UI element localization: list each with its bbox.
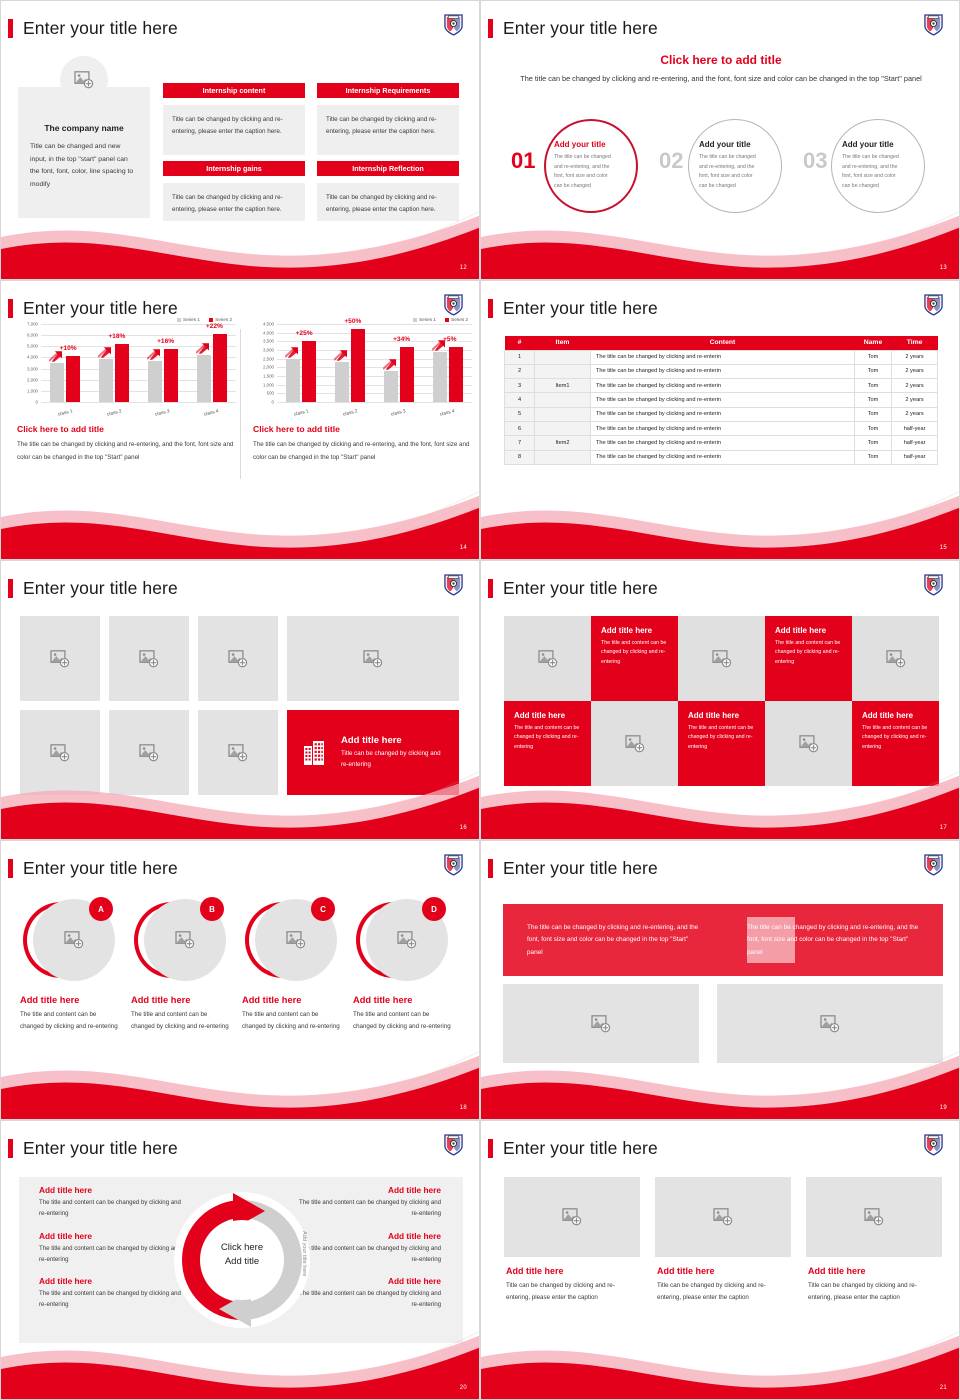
x-tick-label: class 4 xyxy=(440,409,456,417)
text-tile[interactable]: Add title here The title and content can… xyxy=(678,701,765,786)
image-placeholder[interactable] xyxy=(655,1177,791,1257)
cell-index: 4 xyxy=(505,393,535,407)
card-title[interactable]: Add title here xyxy=(657,1266,781,1276)
table-row[interactable]: 7 Item2 The title can be changed by clic… xyxy=(505,436,938,450)
cell-name: Tom xyxy=(854,379,891,393)
title-text: Enter your title here xyxy=(23,1138,178,1159)
badge-letter: A xyxy=(89,897,113,921)
feature-title: Add title here xyxy=(341,735,443,746)
add-image-icon xyxy=(864,1208,884,1226)
chart-block-2[interactable]: Series 1 Series 2 05001,0001,5002,0002,5… xyxy=(253,317,480,464)
tile-title: Add title here xyxy=(862,711,929,720)
right-arc-label: Add your title here xyxy=(301,1231,307,1276)
tile-text: The title and content can be changed by … xyxy=(688,724,755,752)
cell-content[interactable]: The title can be changed by clicking and… xyxy=(591,450,855,464)
y-tick-label: 1,000 xyxy=(263,382,277,387)
image-placeholder[interactable] xyxy=(20,616,100,701)
cell-content[interactable]: The title can be changed by clicking and… xyxy=(591,393,855,407)
image-placeholder[interactable] xyxy=(591,701,678,786)
slide-20[interactable]: Enter your title here Add title here The… xyxy=(0,1120,480,1400)
title-text: Enter your title here xyxy=(503,298,658,319)
shield-logo-icon xyxy=(444,293,463,316)
legend-label: Series 1 xyxy=(419,317,436,322)
chart-block-1[interactable]: Series 1 Series 2 01,0002,0003,0004,0005… xyxy=(17,317,246,464)
add-image-icon xyxy=(591,1015,611,1033)
cell-time: half-year xyxy=(892,450,938,464)
bar-series-1[interactable] xyxy=(148,361,162,402)
slide-title[interactable]: Enter your title here xyxy=(8,1138,178,1159)
cell-content[interactable]: The title can be changed by clicking and… xyxy=(591,379,855,393)
table-column-header: # xyxy=(505,336,535,350)
card-text: Title can be changed by clicking and re-… xyxy=(808,1280,932,1304)
add-image-icon xyxy=(397,931,417,949)
cell-content[interactable]: The title can be changed by clicking and… xyxy=(591,364,855,378)
cycle-diagram[interactable]: Click here Add title Add your title here… xyxy=(167,1183,317,1338)
box-body-1: Title can be changed by clicking and re-… xyxy=(163,105,305,155)
cell-index: 6 xyxy=(505,421,535,435)
slide-14[interactable]: Enter your title here Series 1 Series 2 … xyxy=(0,280,480,560)
table-row[interactable]: 1 The title can be changed by clicking a… xyxy=(505,350,938,364)
slide-title[interactable]: Enter your title here xyxy=(8,858,178,879)
item-title[interactable]: Add title here xyxy=(242,995,352,1005)
data-table[interactable]: #ItemContentNameTime 1 The title can be … xyxy=(504,336,938,465)
media-card[interactable]: Add title here Title can be changed by c… xyxy=(806,1177,942,1304)
add-image-icon xyxy=(820,1015,840,1033)
image-placeholder[interactable] xyxy=(806,1177,942,1257)
item-text: The title and content can be changed by … xyxy=(242,1009,342,1033)
page-number: 13 xyxy=(940,265,947,271)
cell-content[interactable]: The title can be changed by clicking and… xyxy=(591,436,855,450)
add-image-icon xyxy=(625,735,645,753)
cell-content[interactable]: The title can be changed by clicking and… xyxy=(591,421,855,435)
slide-19[interactable]: Enter your title here The title can be c… xyxy=(480,840,960,1120)
item-title[interactable]: Add title here xyxy=(353,995,463,1005)
x-tick-label: class 2 xyxy=(106,409,122,417)
chart-plot-2: 05001,0001,5002,0002,5003,0003,5004,0004… xyxy=(277,324,472,402)
badge-letter: B xyxy=(200,897,224,921)
footer-wave xyxy=(1,489,480,559)
title-text: Enter your title here xyxy=(23,858,178,879)
shield-logo-icon xyxy=(444,573,463,596)
bar-group-container: +10% class 1 +18% class 2 +16% class 3 +… xyxy=(41,324,236,402)
y-tick-label: 5,000 xyxy=(27,344,41,349)
cell-index: 2 xyxy=(505,364,535,378)
circle-item[interactable]: C Add title here The title and content c… xyxy=(242,899,352,1033)
y-tick-label: 7,000 xyxy=(27,322,41,327)
add-image-icon xyxy=(50,744,70,762)
card-text: Title can be changed by clicking and re-… xyxy=(657,1280,781,1304)
bar-series-2[interactable] xyxy=(213,334,227,402)
bar-series-2[interactable] xyxy=(164,349,178,402)
cell-content[interactable]: The title can be changed by clicking and… xyxy=(591,407,855,421)
box-body-2: Title can be changed by clicking and re-… xyxy=(317,105,459,155)
image-grid: Add title here Title can be changed by c… xyxy=(20,616,459,795)
step-title-2: Add your title xyxy=(699,140,751,149)
growth-annotation: +16% xyxy=(157,338,174,345)
center-line-1: Click here xyxy=(167,1241,317,1255)
feature-text: Title can be changed by clicking and re-… xyxy=(341,749,443,769)
bar-group[interactable]: +25% class 1 xyxy=(277,324,326,402)
company-image-placeholder[interactable] xyxy=(60,56,108,104)
box-body-3: Title can be changed by clicking and re-… xyxy=(163,183,305,221)
slide-21[interactable]: Enter your title here Add title here Tit… xyxy=(480,1120,960,1400)
growth-annotation: +5% xyxy=(443,336,456,343)
shield-logo-icon xyxy=(924,293,943,316)
footer-wave xyxy=(481,489,960,559)
title-text: Enter your title here xyxy=(23,18,178,39)
bar-series-2[interactable] xyxy=(302,341,316,402)
box-header-3[interactable]: Internship gains xyxy=(163,161,305,176)
cell-content[interactable]: The title can be changed by clicking and… xyxy=(591,350,855,364)
tile-title: Add title here xyxy=(514,711,581,720)
circle-graphic: A xyxy=(23,899,115,981)
title-text: Enter your title here xyxy=(503,578,658,599)
image-placeholder[interactable] xyxy=(198,616,278,701)
building-icon xyxy=(303,740,329,766)
step-title-1: Add your title xyxy=(554,140,606,149)
bar-series-2[interactable] xyxy=(449,347,463,402)
y-tick-label: 2,000 xyxy=(263,365,277,370)
image-placeholder[interactable] xyxy=(717,984,943,1063)
add-image-icon xyxy=(286,931,306,949)
page-number: 18 xyxy=(460,1105,467,1111)
y-tick-label: 2,000 xyxy=(27,377,41,382)
chart-caption-title-2[interactable]: Click here to add title xyxy=(253,424,480,434)
growth-annotation: +25% xyxy=(296,330,313,337)
page-number: 16 xyxy=(460,825,467,831)
cell-name: Tom xyxy=(854,436,891,450)
title-text: Enter your title here xyxy=(23,298,178,319)
image-placeholder[interactable] xyxy=(198,710,278,795)
card-title[interactable]: Add title here xyxy=(808,1266,932,1276)
y-tick-label: 3,000 xyxy=(263,348,277,353)
tile-title: Add title here xyxy=(601,626,668,635)
bar-group[interactable]: +18% class 2 xyxy=(90,324,139,402)
bar-group[interactable]: +34% class 3 xyxy=(375,324,424,402)
chart-caption-text-2: The title can be changed by clicking and… xyxy=(253,438,480,464)
growth-arrow-icon xyxy=(49,351,62,362)
slide-title[interactable]: Enter your title here xyxy=(488,1138,658,1159)
tile-text: The title and content can be changed by … xyxy=(775,639,842,667)
add-image-icon xyxy=(228,650,248,668)
page-number: 21 xyxy=(940,1385,947,1391)
bar-series-2[interactable] xyxy=(400,347,414,402)
add-image-icon xyxy=(886,650,906,668)
bar-series-1[interactable] xyxy=(335,362,349,402)
title-text: Enter your title here xyxy=(503,18,658,39)
bar-series-1[interactable] xyxy=(384,371,398,402)
item-text: The title and content can be changed by … xyxy=(20,1009,120,1033)
chart-caption-text-1: The title can be changed by clicking and… xyxy=(17,438,246,464)
feature-card[interactable]: Add title here Title can be changed by c… xyxy=(287,710,459,795)
circle-graphic: C xyxy=(245,899,337,981)
title-accent-bar xyxy=(8,1139,13,1158)
chart-plot-1: 01,0002,0003,0004,0005,0006,0007,000 +10… xyxy=(41,324,236,402)
slide-title[interactable]: Enter your title here xyxy=(8,298,178,319)
mixed-grid: Add title here The title and content can… xyxy=(504,616,939,786)
growth-arrow-icon xyxy=(334,350,347,361)
bar-group[interactable]: +10% class 1 xyxy=(41,324,90,402)
title-accent-bar xyxy=(488,1139,493,1158)
text-tile[interactable]: Add title here The title and content can… xyxy=(765,616,852,701)
table-row[interactable]: 6 The title can be changed by clicking a… xyxy=(505,421,938,435)
cell-index: 8 xyxy=(505,450,535,464)
cell-item xyxy=(535,350,591,364)
growth-annotation: +22% xyxy=(206,323,223,330)
title-accent-bar xyxy=(8,299,13,318)
y-tick-label: 1,500 xyxy=(263,374,277,379)
shield-logo-icon xyxy=(444,13,463,36)
box-header-2[interactable]: Internship Requirements xyxy=(317,83,459,98)
bar-group[interactable]: +50% class 2 xyxy=(326,324,375,402)
box-header-1[interactable]: Internship content xyxy=(163,83,305,98)
cell-item xyxy=(535,450,591,464)
title-accent-bar xyxy=(488,859,493,878)
growth-annotation: +50% xyxy=(344,318,361,325)
shield-logo-icon xyxy=(444,1133,463,1156)
slide-12[interactable]: Enter your title here The company name T… xyxy=(0,0,480,280)
image-placeholder[interactable] xyxy=(852,616,939,701)
table-row[interactable]: 4 The title can be changed by clicking a… xyxy=(505,393,938,407)
table-column-header: Time xyxy=(892,336,938,350)
add-image-icon xyxy=(139,744,159,762)
shield-logo-icon xyxy=(924,853,943,876)
center-line-2: Add title xyxy=(167,1255,317,1269)
bar-group[interactable]: +22% class 4 xyxy=(187,324,236,402)
add-image-icon xyxy=(363,650,383,668)
slide-18[interactable]: Enter your title here A Add title here T… xyxy=(0,840,480,1120)
add-image-icon xyxy=(228,744,248,762)
tile-title: Add title here xyxy=(775,626,842,635)
step-text-3: The title can be changed and re-entering… xyxy=(842,153,904,192)
cell-name: Tom xyxy=(854,450,891,464)
image-placeholder[interactable] xyxy=(20,710,100,795)
item-text: The title and content can be changed by … xyxy=(353,1009,453,1033)
circle-graphic: D xyxy=(356,899,448,981)
cell-item xyxy=(535,393,591,407)
cell-name: Tom xyxy=(854,350,891,364)
banner-divider xyxy=(747,917,795,963)
cell-name: Tom xyxy=(854,421,891,435)
page-number: 19 xyxy=(940,1105,947,1111)
growth-arrow-icon xyxy=(196,343,209,354)
growth-arrow-icon xyxy=(383,359,396,370)
footer-wave xyxy=(481,209,960,279)
y-tick-label: 2,500 xyxy=(263,356,277,361)
company-name: The company name xyxy=(30,123,138,133)
slide-title[interactable]: Enter your title here xyxy=(8,578,178,599)
title-text: Enter your title here xyxy=(503,858,658,879)
page-number: 15 xyxy=(940,545,947,551)
text-tile[interactable]: Add title here The title and content can… xyxy=(591,616,678,701)
image-placeholder[interactable] xyxy=(109,710,189,795)
table-column-header: Content xyxy=(591,336,855,350)
chart-caption-title-1[interactable]: Click here to add title xyxy=(17,424,246,434)
y-tick-label: 3,500 xyxy=(263,339,277,344)
legend-label: Series 1 xyxy=(183,317,200,322)
cell-item: Item1 xyxy=(535,379,591,393)
page-number: 12 xyxy=(460,265,467,271)
text-tile[interactable]: Add title here The title and content can… xyxy=(504,701,591,786)
slide-title[interactable]: Enter your title here xyxy=(488,298,658,319)
title-accent-bar xyxy=(488,579,493,598)
add-image-icon xyxy=(139,650,159,668)
title-accent-bar xyxy=(488,299,493,318)
y-tick-label: 6,000 xyxy=(27,333,41,338)
bar-series-1[interactable] xyxy=(433,352,447,402)
circle-graphic: B xyxy=(134,899,226,981)
tile-text: The title and content can be changed by … xyxy=(514,724,581,752)
y-tick-label: 500 xyxy=(267,391,277,396)
tile-text: The title and content can be changed by … xyxy=(862,724,929,752)
add-image-icon xyxy=(74,71,94,89)
bar-series-2[interactable] xyxy=(115,344,129,403)
bar-series-1[interactable] xyxy=(99,359,113,402)
cell-index: 5 xyxy=(505,407,535,421)
circle-item[interactable]: D Add title here The title and content c… xyxy=(353,899,463,1033)
bar-series-2[interactable] xyxy=(351,329,365,402)
chart-legend-2: Series 1 Series 2 xyxy=(253,317,480,322)
slide-deck: Enter your title here The company name T… xyxy=(0,0,960,1400)
title-text: Enter your title here xyxy=(503,1138,658,1159)
cell-time: half-year xyxy=(892,436,938,450)
circle-item[interactable]: A Add title here The title and content c… xyxy=(20,899,130,1033)
chart-legend-1: Series 1 Series 2 xyxy=(17,317,246,322)
image-placeholder-wide[interactable] xyxy=(287,616,459,701)
page-number: 20 xyxy=(460,1385,467,1391)
x-tick-label: class 2 xyxy=(342,409,358,417)
table-column-header: Item xyxy=(535,336,591,350)
media-card[interactable]: Add title here Title can be changed by c… xyxy=(655,1177,791,1304)
tile-text: The title and content can be changed by … xyxy=(601,639,668,667)
section-heading[interactable]: Click here to add title xyxy=(481,53,960,67)
cell-time: 2 years xyxy=(892,364,938,378)
bar-group-container: +25% class 1 +50% class 2 +34% class 3 +… xyxy=(277,324,472,402)
y-tick-label: 1,000 xyxy=(27,388,41,393)
step-number-3: 03 xyxy=(803,150,827,172)
left-arc-label: Add your title here xyxy=(175,1237,181,1282)
image-placeholder[interactable] xyxy=(504,1177,640,1257)
table-row[interactable]: 2 The title can be changed by clicking a… xyxy=(505,364,938,378)
item-title[interactable]: Add title here xyxy=(131,995,241,1005)
bar-group[interactable]: +16% class 3 xyxy=(139,324,188,402)
bar-series-2[interactable] xyxy=(66,356,80,402)
step-text-1: The title can be changed and re-entering… xyxy=(554,153,616,192)
image-placeholder[interactable] xyxy=(678,616,765,701)
bar-group[interactable]: +5% class 4 xyxy=(423,324,472,402)
title-accent-bar xyxy=(8,19,13,38)
y-tick-label: 4,000 xyxy=(263,330,277,335)
slide-17[interactable]: Enter your title here Add title here The… xyxy=(480,560,960,840)
section-subheading: The title can be changed by clicking and… xyxy=(481,73,960,86)
table-row[interactable]: 5 The title can be changed by clicking a… xyxy=(505,407,938,421)
bar-series-1[interactable] xyxy=(197,355,211,402)
cell-time: 2 years xyxy=(892,379,938,393)
table-row[interactable]: 3 Item1 The title can be changed by clic… xyxy=(505,379,938,393)
cell-name: Tom xyxy=(854,393,891,407)
slide-16[interactable]: Enter your title here Add title here Tit… xyxy=(0,560,480,840)
image-placeholder[interactable] xyxy=(109,616,189,701)
title-accent-bar xyxy=(8,579,13,598)
table-row[interactable]: 8 The title can be changed by clicking a… xyxy=(505,450,938,464)
title-accent-bar xyxy=(488,19,493,38)
circle-item[interactable]: B Add title here The title and content c… xyxy=(131,899,241,1033)
cell-time: 2 years xyxy=(892,350,938,364)
cell-index: 3 xyxy=(505,379,535,393)
growth-annotation: +34% xyxy=(393,336,410,343)
cell-item xyxy=(535,407,591,421)
bar-series-1[interactable] xyxy=(50,363,64,402)
box-header-4[interactable]: Internship Reflection xyxy=(317,161,459,176)
text-tile[interactable]: Add title here The title and content can… xyxy=(852,701,939,786)
growth-annotation: +18% xyxy=(108,333,125,340)
table-column-header: Name xyxy=(854,336,891,350)
item-title[interactable]: Add title here xyxy=(20,995,130,1005)
cell-time: 2 years xyxy=(892,407,938,421)
cell-item xyxy=(535,421,591,435)
slide-title[interactable]: Enter your title here xyxy=(8,18,178,39)
legend-label: Series 2 xyxy=(451,317,468,322)
step-text-2: The title can be changed and re-entering… xyxy=(699,153,761,192)
banner-text-left: The title can be changed by clicking and… xyxy=(503,904,723,976)
add-image-icon xyxy=(799,735,819,753)
y-tick-label: 3,000 xyxy=(27,366,41,371)
slide-title[interactable]: Enter your title here xyxy=(488,858,658,879)
slide-13[interactable]: Enter your title here Click here to add … xyxy=(480,0,960,280)
shield-logo-icon xyxy=(444,853,463,876)
footer-wave xyxy=(1,1049,480,1119)
table-header-row: #ItemContentNameTime xyxy=(505,336,938,350)
badge-letter: C xyxy=(311,897,335,921)
x-tick-label: class 1 xyxy=(294,409,310,417)
card-title[interactable]: Add title here xyxy=(506,1266,630,1276)
page-number: 17 xyxy=(940,825,947,831)
image-placeholder[interactable] xyxy=(765,701,852,786)
red-text-banner[interactable]: The title can be changed by clicking and… xyxy=(503,904,943,976)
bar-series-1[interactable] xyxy=(286,359,300,402)
cell-name: Tom xyxy=(854,364,891,378)
x-tick-label: class 3 xyxy=(391,409,407,417)
page-number: 14 xyxy=(460,545,467,551)
cell-name: Tom xyxy=(854,407,891,421)
image-placeholder[interactable] xyxy=(504,616,591,701)
slide-15[interactable]: Enter your title here #ItemContentNameTi… xyxy=(480,280,960,560)
step-number-1: 01 xyxy=(511,150,535,172)
add-image-icon xyxy=(562,1208,582,1226)
shield-logo-icon xyxy=(924,13,943,36)
x-tick-label: class 4 xyxy=(204,409,220,417)
image-placeholder[interactable] xyxy=(503,984,699,1063)
growth-arrow-icon xyxy=(98,347,111,358)
growth-arrow-icon xyxy=(147,349,160,360)
add-image-icon xyxy=(50,650,70,668)
cell-item: Item2 xyxy=(535,436,591,450)
company-card[interactable]: The company name Title can be changed an… xyxy=(18,87,150,218)
shield-logo-icon xyxy=(924,573,943,596)
slide-title[interactable]: Enter your title here xyxy=(488,18,658,39)
title-text: Enter your title here xyxy=(23,578,178,599)
x-tick-label: class 1 xyxy=(58,409,74,417)
badge-letter: D xyxy=(422,897,446,921)
media-card[interactable]: Add title here Title can be changed by c… xyxy=(504,1177,640,1304)
tile-title: Add title here xyxy=(688,711,755,720)
y-tick-label: 4,000 xyxy=(27,355,41,360)
add-image-icon xyxy=(64,931,84,949)
cell-time: half-year xyxy=(892,421,938,435)
box-body-4: Title can be changed by clicking and re-… xyxy=(317,183,459,221)
growth-arrow-icon xyxy=(432,340,445,351)
slide-title[interactable]: Enter your title here xyxy=(488,578,658,599)
